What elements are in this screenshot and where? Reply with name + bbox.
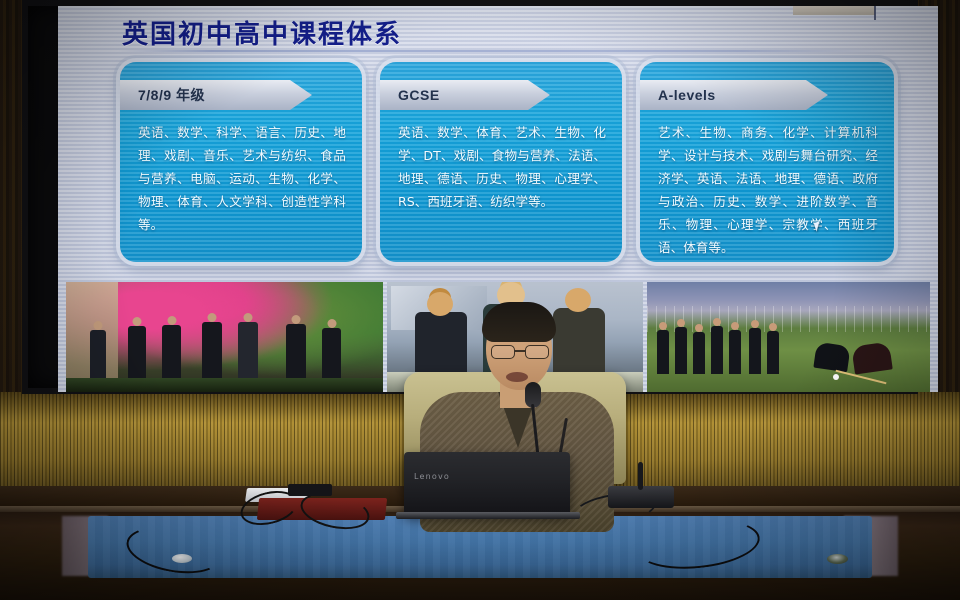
- card-header-label: 7/8/9 年级: [138, 85, 205, 105]
- screen-top-light-strip: [793, 6, 875, 15]
- photo-classroom: [387, 282, 642, 392]
- laptop-base: [396, 512, 580, 519]
- desk-object-right: [827, 554, 848, 564]
- slide-title: 英国初中高中课程体系: [122, 14, 402, 51]
- curriculum-card-alevels[interactable]: A-levels 艺术、生物、商务、化学、计算机科学、设计与技术、戏剧与舞台研究…: [640, 62, 894, 262]
- laptop-lid[interactable]: Lenovo: [404, 452, 570, 514]
- laptop-brand-logo: Lenovo: [414, 472, 450, 481]
- photo-hockey-field: [647, 282, 930, 392]
- card-header-banner-grade789: 7/8/9 年级: [120, 80, 312, 110]
- card-header-label: A-levels: [658, 87, 716, 103]
- curriculum-cards: 7/8/9 年级 英语、数学、科学、语言、历史、地理、戏剧、音乐、艺术与纺织、食…: [58, 62, 938, 272]
- card-header-banner-gcse: GCSE: [380, 80, 550, 110]
- curriculum-card-grade789[interactable]: 7/8/9 年级 英语、数学、科学、语言、历史、地理、戏剧、音乐、艺术与纺织、食…: [120, 62, 362, 262]
- curriculum-card-gcse[interactable]: GCSE 英语、数学、体育、艺术、生物、化学、DT、戏剧、食物与营养、法语、地理…: [380, 62, 622, 262]
- slide-photo-strip: [58, 282, 938, 392]
- photo-students-campus: [66, 282, 383, 392]
- card-header-label: GCSE: [398, 87, 440, 103]
- projection-screen[interactable]: 英国初中高中课程体系 7/8/9 年级 英语、数学、科学、语言、历史、地理、戏剧…: [58, 6, 938, 392]
- card-body-alevels: 艺术、生物、商务、化学、计算机科学、设计与技术、戏剧与舞台研究、经济学、英语、法…: [640, 120, 894, 254]
- antenna-icon: [638, 462, 643, 490]
- screen-top-edge-line: [874, 6, 876, 20]
- screen-bezel: 英国初中高中课程体系 7/8/9 年级 英语、数学、科学、语言、历史、地理、戏剧…: [22, 0, 918, 394]
- card-body-gcse: 英语、数学、体育、艺术、生物、化学、DT、戏剧、食物与营养、法语、地理、德语、历…: [380, 120, 622, 254]
- screenshot-stage: 英国初中高中课程体系 7/8/9 年级 英语、数学、科学、语言、历史、地理、戏剧…: [0, 0, 960, 600]
- card-header-banner-alevels: A-levels: [640, 80, 828, 110]
- card-body-grade789: 英语、数学、科学、语言、历史、地理、戏剧、音乐、艺术与纺织、食品与营养、电脑、运…: [120, 120, 362, 254]
